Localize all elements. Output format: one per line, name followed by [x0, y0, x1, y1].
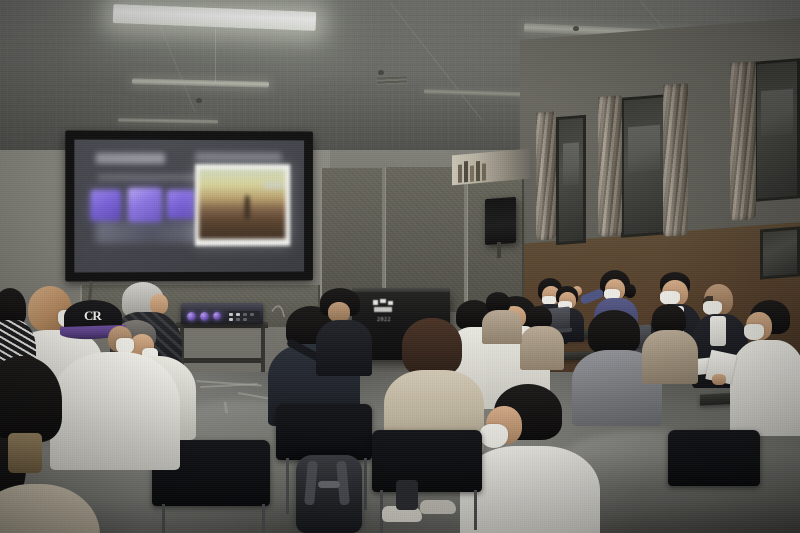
- equipment-case-logo: [371, 299, 397, 315]
- backpack: [296, 455, 362, 533]
- video-mixer[interactable]: [181, 303, 263, 324]
- trouser-leg: [396, 480, 418, 510]
- mixer-button-3[interactable]: [243, 313, 247, 316]
- mixer-knob-2[interactable]: [200, 312, 209, 321]
- slide-title-text: [95, 153, 164, 164]
- photo-scene: 2022: [0, 0, 800, 533]
- mixer-button-2[interactable]: [236, 313, 240, 316]
- equipment-case-year: 2022: [372, 317, 396, 323]
- window-2: [621, 94, 667, 238]
- slide-thumbnail-2: [128, 187, 163, 221]
- projection-screen-frame: [65, 130, 313, 281]
- face-mask-white-right: [744, 324, 764, 340]
- chair-row2-center-leg: [286, 458, 289, 514]
- curtain-3: [663, 83, 688, 237]
- sprinkler-head-1: [196, 98, 202, 103]
- slide-thumbnail-3: [167, 190, 195, 219]
- face-mask-white-front-right: [480, 424, 508, 448]
- mixer-button-1[interactable]: [229, 313, 233, 316]
- wall-speaker: [485, 197, 516, 245]
- slide-photo-figure: [245, 195, 250, 219]
- curtain-2: [598, 95, 622, 237]
- slide-photo-tag: [264, 182, 285, 189]
- projection-screen-surface: [74, 140, 304, 273]
- sprinkler-head-3: [573, 26, 579, 31]
- mixer-button-7[interactable]: [243, 318, 247, 321]
- window-1: [556, 115, 586, 245]
- face-mask-suit-right-2: [703, 301, 722, 315]
- slide-subtitle-text: [195, 152, 282, 161]
- av-table-shelf: [182, 358, 264, 363]
- slide-photo-image: [199, 169, 285, 239]
- chair-row2-center-leg-2: [364, 458, 367, 510]
- ceiling-hanger-wire: [215, 28, 216, 82]
- slide-thumbnail-1: [91, 190, 121, 221]
- mixer-knob-1[interactable]: [187, 312, 196, 321]
- air-vent-left: [376, 75, 408, 85]
- tote-bag: [8, 433, 42, 473]
- cap-logo-text: CR: [84, 308, 101, 324]
- slide-photo-panel: [195, 164, 291, 246]
- chair-row1-left-leg: [162, 504, 165, 533]
- shoe-2: [420, 500, 456, 514]
- hand-holding-document: [712, 374, 726, 385]
- mixer-button-4[interactable]: [250, 313, 254, 316]
- chair-row1-left-leg-2: [262, 504, 265, 533]
- window-3: [754, 58, 800, 202]
- window-4: [760, 226, 800, 279]
- chair-row1-center-leg-2: [474, 490, 477, 530]
- face-mask-suit-right: [660, 291, 680, 305]
- curtain-4: [730, 61, 756, 221]
- slide-thumbnail-glow: [95, 222, 206, 243]
- dress-shirt-collar-2: [710, 316, 726, 346]
- chair-row2-center[interactable]: [276, 404, 372, 460]
- chair-right-front[interactable]: [668, 430, 760, 486]
- partition-leg-2: [464, 165, 467, 315]
- mixer-button-5[interactable]: [229, 318, 233, 321]
- speaker-bracket: [497, 242, 501, 258]
- mixer-button-6[interactable]: [236, 318, 240, 321]
- slide-caption-text: [98, 174, 200, 181]
- chair-row1-center[interactable]: [372, 430, 482, 492]
- sprinkler-head-2: [378, 70, 384, 75]
- mixer-knob-3[interactable]: [213, 312, 221, 320]
- curtain-1: [536, 111, 556, 240]
